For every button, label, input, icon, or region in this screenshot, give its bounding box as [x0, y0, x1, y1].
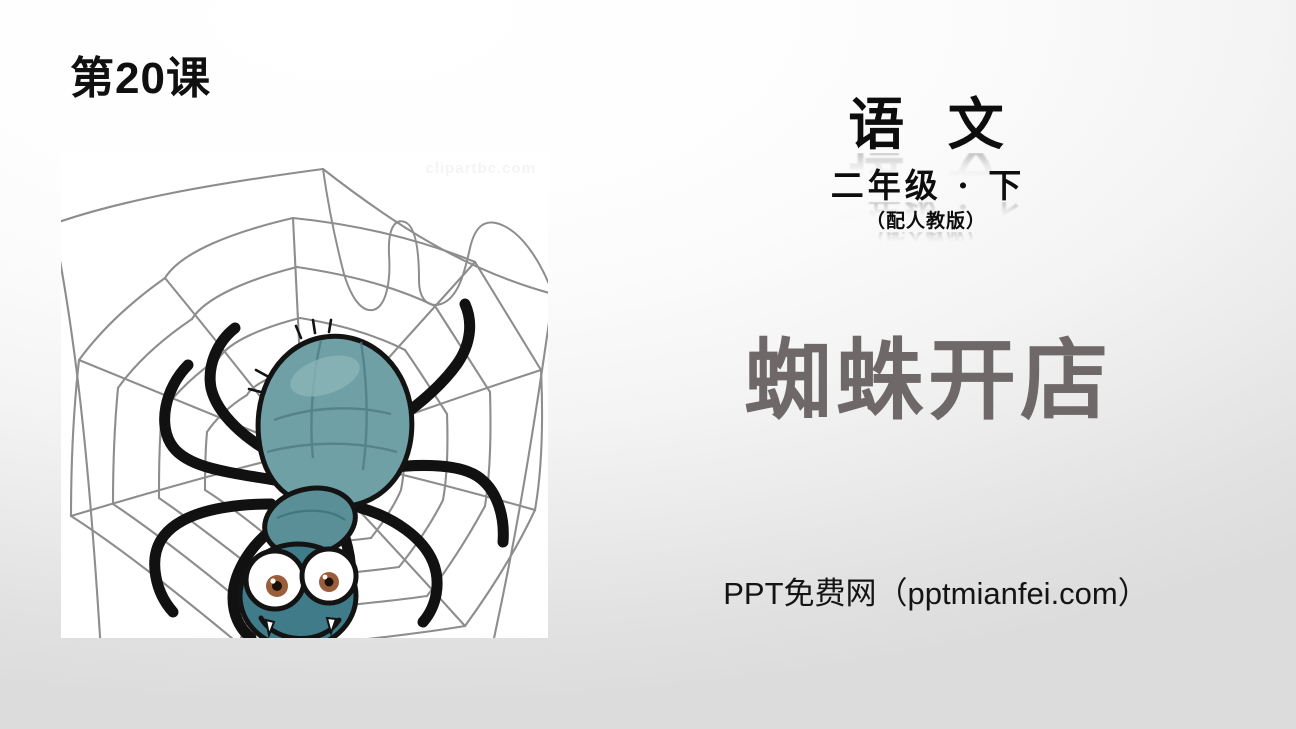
page-title: 蜘蛛开店: [646, 332, 1206, 431]
edition-text: （配人教版）: [646, 212, 1206, 232]
presentation-slide: 第20课: [0, 0, 1296, 729]
site-credit: PPT免费网（pptmianfei.com）: [646, 568, 1226, 613]
grade-text: 二年级 · 下: [646, 169, 1206, 204]
spider-illustration: clipartbc.com: [61, 152, 548, 638]
subject-block: 语 文 语 文 二年级 · 下 二年级 · 下 （配人教版） （配人教版）: [646, 96, 1206, 246]
subject-name-text: 语 文: [646, 96, 1206, 155]
lesson-number-label: 第20课: [70, 57, 211, 101]
spider-web-drawing: [61, 152, 548, 638]
image-watermark: clipartbc.com: [425, 160, 536, 177]
edition-reflection: （配人教版）: [646, 232, 1206, 246]
edition-line: （配人教版） （配人教版）: [646, 212, 1206, 246]
